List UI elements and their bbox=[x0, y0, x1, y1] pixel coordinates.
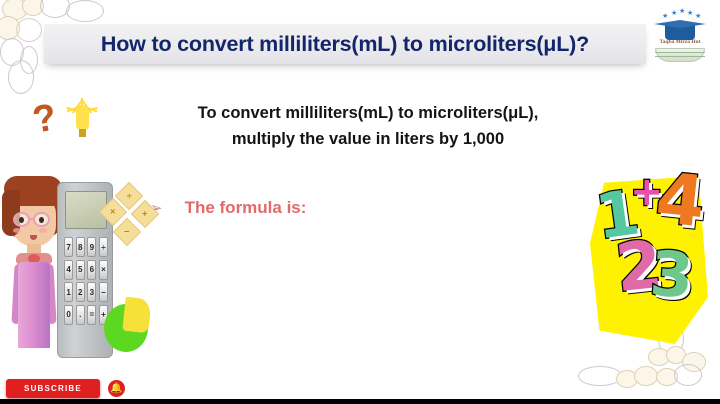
title-banner: How to convert milliliters(mL) to microl… bbox=[44, 24, 646, 64]
calculator-key: = bbox=[87, 305, 96, 325]
brand-logo: ★ ★ ★ ★ ★ Taqba Mirza Hut bbox=[646, 4, 714, 66]
graduation-cap-brim-icon bbox=[654, 20, 706, 28]
book-line bbox=[655, 56, 705, 57]
calculator-key: 0 bbox=[64, 305, 73, 325]
page-title: How to convert milliliters(mL) to microl… bbox=[101, 32, 589, 57]
calculator-key: 3 bbox=[87, 282, 96, 302]
calculator-key: 6 bbox=[87, 260, 96, 280]
pie-chart-icon bbox=[104, 298, 154, 356]
body-text-block: To convert milliliters(mL) to microliter… bbox=[148, 100, 588, 152]
calculator-key: 2 bbox=[76, 282, 85, 302]
math-symbol-card: − bbox=[113, 218, 141, 246]
star-icon: ★ bbox=[662, 12, 668, 20]
calculator-key: × bbox=[99, 260, 108, 280]
formula-label: The formula is: bbox=[185, 198, 307, 218]
math-symbol-card: + bbox=[131, 200, 159, 228]
open-book-icon bbox=[655, 48, 705, 62]
question-mark-icon: ? bbox=[30, 98, 59, 139]
lightbulb-icon bbox=[62, 96, 102, 150]
calculator-key: 4 bbox=[64, 260, 73, 280]
body-line-1: To convert milliliters(mL) to microliter… bbox=[148, 100, 588, 126]
star-icon: ★ bbox=[671, 9, 677, 17]
star-icon: ★ bbox=[679, 7, 685, 15]
body-line-2: multiply the value in liters by 1,000 bbox=[148, 126, 588, 152]
calculator-key: . bbox=[76, 305, 85, 325]
calculator-key: 5 bbox=[76, 260, 85, 280]
notification-bell-icon[interactable]: 🔔 bbox=[108, 380, 125, 397]
logo-brand-name: Taqba Mirza Hut bbox=[646, 39, 714, 45]
number-glyph: 4 bbox=[653, 170, 707, 232]
slide-canvas: How to convert milliliters(mL) to microl… bbox=[0, 0, 720, 404]
star-icon: ★ bbox=[695, 12, 701, 20]
math-symbol-cards: ÷×+− bbox=[103, 186, 161, 254]
calculator-key: 1 bbox=[64, 282, 73, 302]
bottom-letterbox-bar bbox=[0, 399, 720, 404]
number-glyph: 3 bbox=[648, 249, 695, 303]
formula-bullet-line: ➢ The formula is: bbox=[150, 198, 306, 218]
calculator-key: 8 bbox=[76, 237, 85, 257]
subscribe-group[interactable]: SUBSCRIBE 🔔 bbox=[6, 379, 125, 398]
calculator-keypad: 789÷456×123−0.=+ bbox=[64, 237, 108, 325]
book-line bbox=[655, 52, 705, 53]
calculator-key: 7 bbox=[64, 237, 73, 257]
numbers-illustration: 1+423 bbox=[586, 166, 714, 362]
star-icon: ★ bbox=[687, 9, 693, 17]
calculator-key: 9 bbox=[87, 237, 96, 257]
subscribe-button[interactable]: SUBSCRIBE bbox=[6, 379, 100, 398]
